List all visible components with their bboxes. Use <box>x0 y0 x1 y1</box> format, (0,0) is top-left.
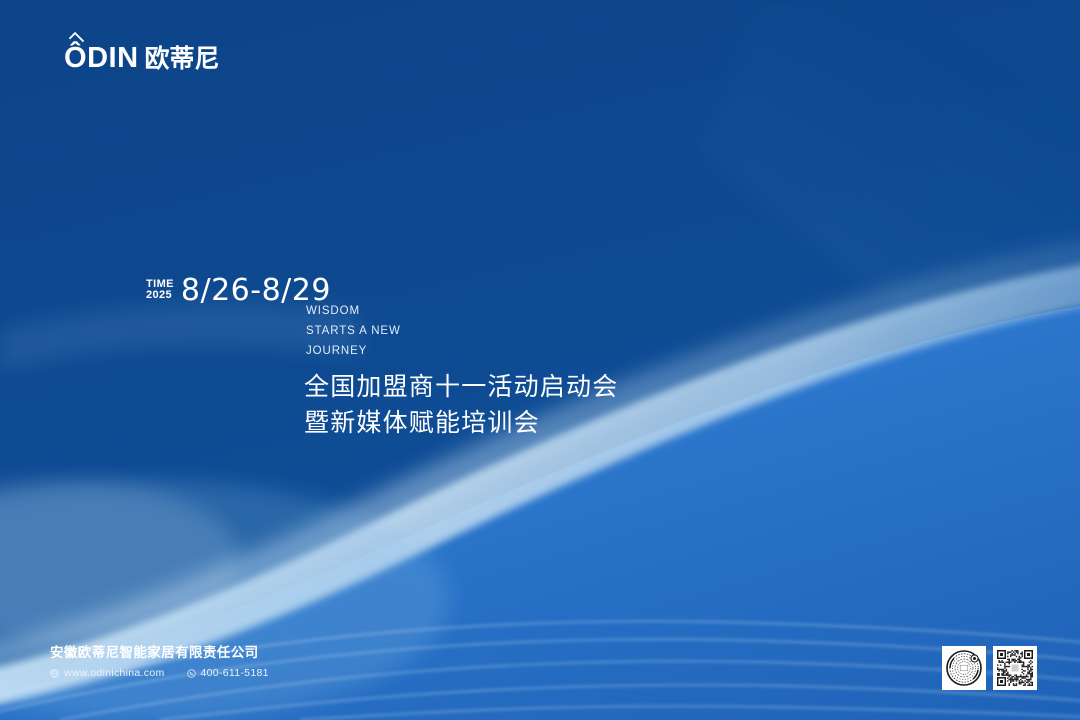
website-contact: www.odinichina.com <box>50 667 165 679</box>
phone-contact: 400-611-5181 <box>187 667 269 679</box>
english-tagline: WISDOM STARTS A NEW JOURNEY <box>306 302 401 361</box>
qr-code-group <box>942 646 1037 690</box>
tagline-line-3: JOURNEY <box>306 342 401 362</box>
square-qr-code[interactable] <box>993 646 1037 690</box>
logo-latin-text: ÔDIN <box>64 44 139 73</box>
subtitle-line-2: 暨新媒体赋能培训会 <box>304 406 618 442</box>
time-label-stack: TIME 2025 <box>146 279 174 303</box>
event-date: TIME 2025 8/26-8/29 <box>146 276 331 306</box>
logo-o-circumflex: Ô <box>64 44 87 73</box>
event-subtitle: 全国加盟商十一活动启动会 暨新媒体赋能培训会 <box>304 370 618 441</box>
main-title <box>430 108 930 348</box>
wechat-round-qr-code[interactable] <box>942 646 986 690</box>
logo-din-text: DIN <box>87 42 138 74</box>
subtitle-line-1: 全国加盟商十一活动启动会 <box>304 370 618 406</box>
brand-logo: ÔDIN 欧蒂尼 <box>64 44 220 73</box>
tagline-line-2: STARTS A NEW <box>306 322 401 342</box>
tagline-line-1: WISDOM <box>306 302 401 322</box>
event-poster: ÔDIN 欧蒂尼 TIME 2025 8/26-8/29 WISDOM STAR… <box>0 0 1080 720</box>
logo-chinese-text: 欧蒂尼 <box>145 47 220 72</box>
contact-row: www.odinichina.com 400-611-5181 <box>50 667 269 679</box>
website-text: www.odinichina.com <box>64 667 165 679</box>
footer-block: 安徽欧蒂尼智能家居有限责任公司 www.odinichina.com 400-6… <box>50 645 269 679</box>
phone-icon <box>187 669 196 678</box>
company-name: 安徽欧蒂尼智能家居有限责任公司 <box>50 645 269 661</box>
globe-icon <box>50 669 59 678</box>
phone-text: 400-611-5181 <box>201 667 269 679</box>
year-label: 2025 <box>146 290 174 301</box>
